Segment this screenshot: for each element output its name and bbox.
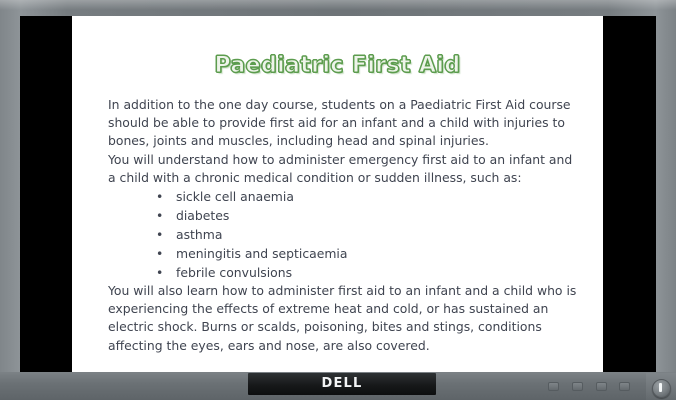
list-item-label: asthma — [176, 227, 222, 242]
list-item: • diabetes — [154, 206, 578, 225]
plus-button[interactable] — [596, 382, 607, 391]
slide-title: Paediatric First Aid — [72, 53, 603, 78]
slide-body: In addition to the one day course, stude… — [108, 96, 578, 355]
presentation-slide: Paediatric First Aid In addition to the … — [72, 16, 603, 372]
paragraph-conditions-lead: You will understand how to administer em… — [108, 151, 578, 187]
monitor-screen: Paediatric First Aid In addition to the … — [20, 16, 656, 372]
bullet-icon: • — [156, 225, 163, 244]
list-item: • sickle cell anaemia — [154, 187, 578, 206]
power-icon — [659, 383, 662, 392]
menu-button[interactable] — [548, 382, 559, 391]
list-item-label: sickle cell anaemia — [176, 189, 294, 204]
list-item: • asthma — [154, 225, 578, 244]
bezel-highlight — [0, 0, 676, 10]
minus-button[interactable] — [572, 382, 583, 391]
slide-content: Paediatric First Aid In addition to the … — [72, 16, 603, 372]
list-item-label: diabetes — [176, 208, 229, 223]
conditions-bullet-list: • sickle cell anaemia • diabetes • asthm… — [108, 187, 578, 282]
list-item-label: febrile convulsions — [176, 265, 292, 280]
bullet-icon: • — [156, 244, 163, 263]
bullet-icon: • — [156, 206, 163, 225]
list-item: • febrile convulsions — [154, 263, 578, 282]
list-item-label: meningitis and septicaemia — [176, 246, 347, 261]
paragraph-closing: You will also learn how to administer fi… — [108, 282, 578, 355]
bullet-icon: • — [156, 263, 163, 282]
bullet-icon: • — [156, 187, 163, 206]
dell-monitor: Paediatric First Aid In addition to the … — [0, 0, 676, 400]
dell-logo: DELL — [248, 374, 436, 394]
paragraph-intro: In addition to the one day course, stude… — [108, 96, 578, 151]
power-button[interactable] — [652, 379, 671, 398]
select-button[interactable] — [619, 382, 630, 391]
osd-button-group[interactable] — [548, 382, 640, 392]
list-item: • meningitis and septicaemia — [154, 244, 578, 263]
